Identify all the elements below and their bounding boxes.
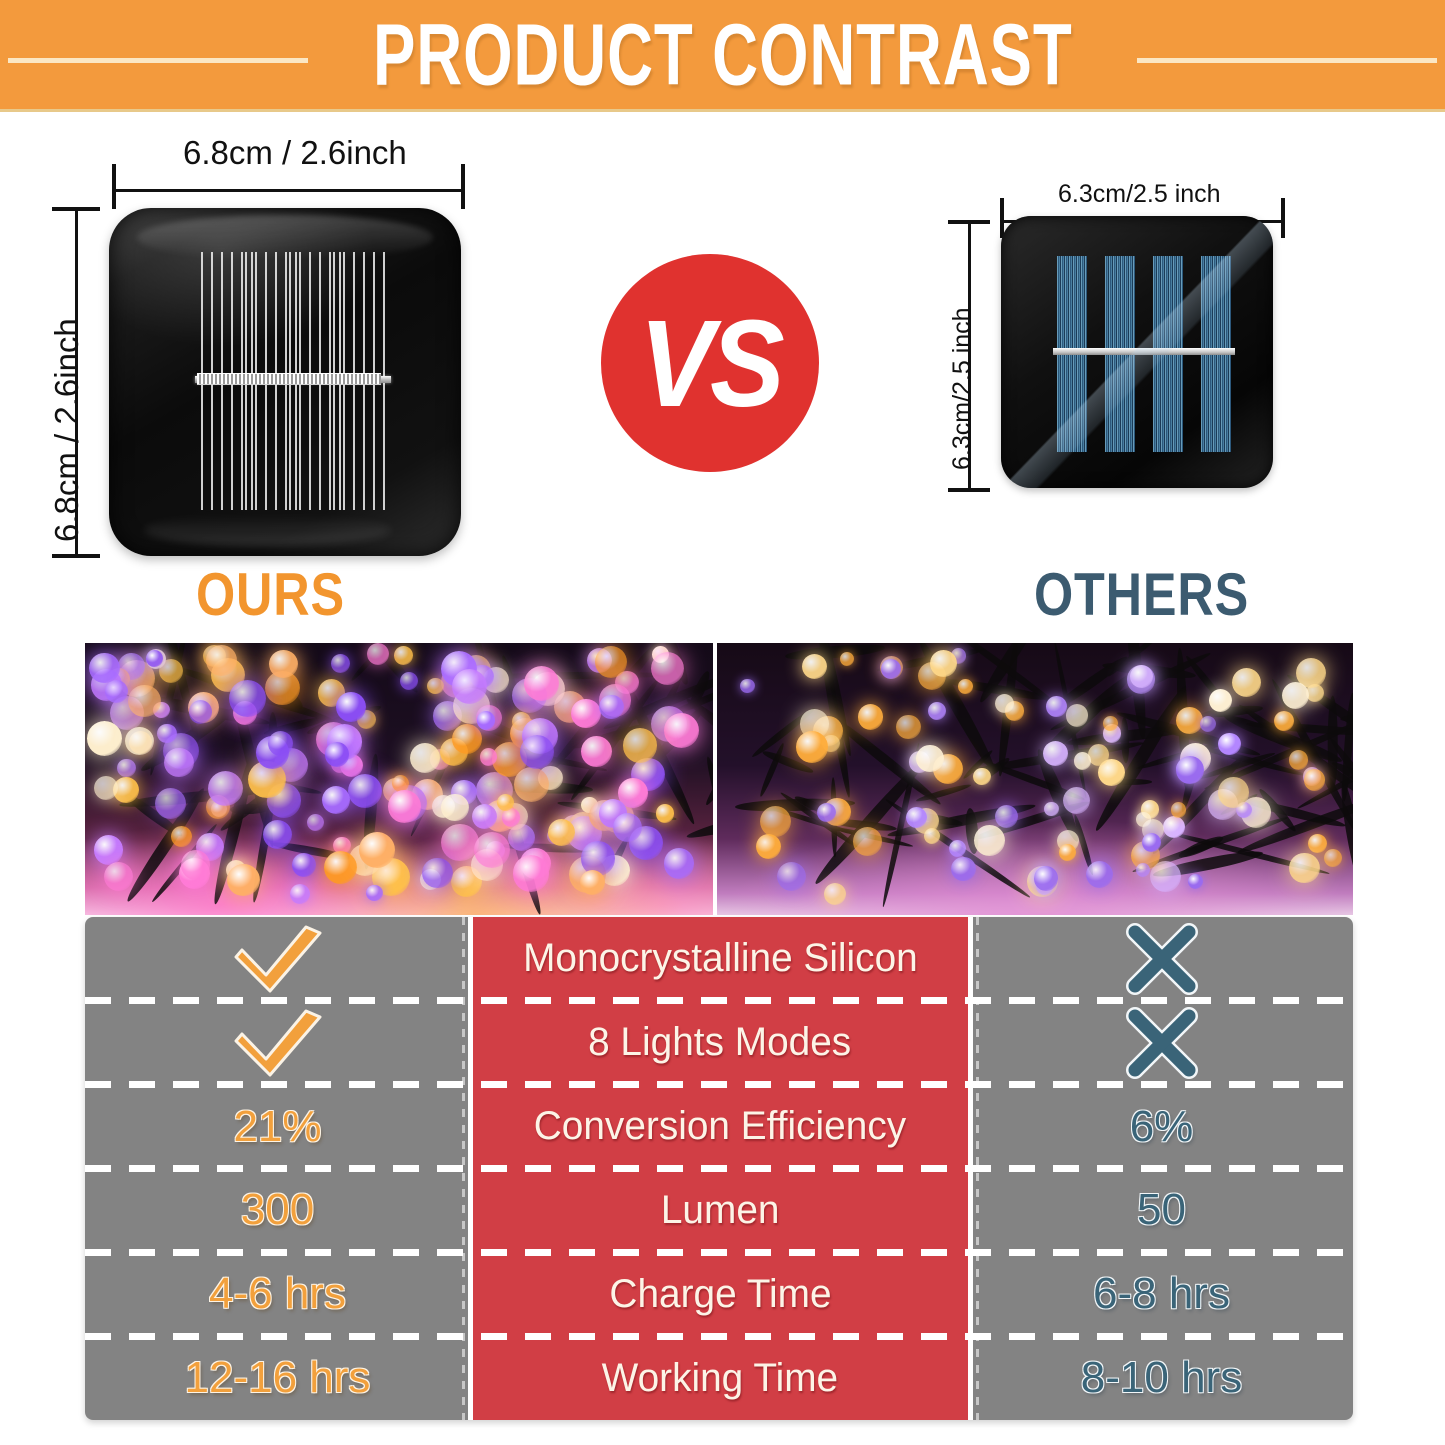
led-bulb xyxy=(477,711,495,729)
column-separator-left xyxy=(468,917,473,1420)
others-solar-panel-image xyxy=(1001,216,1273,488)
led-bulb xyxy=(906,807,927,828)
product-photo-band xyxy=(85,643,1353,915)
led-bulb xyxy=(656,804,674,822)
page-title: PRODUCT CONTRAST xyxy=(357,4,1088,104)
led-bulb xyxy=(229,680,266,717)
led-bulb xyxy=(497,794,514,811)
led-bulb xyxy=(336,692,366,722)
others-width-dimension-label: 6.3cm/2.5 inch xyxy=(1058,180,1221,209)
led-bulb xyxy=(930,650,957,677)
feature-label-text: Working Time xyxy=(602,1356,838,1401)
led-bulb xyxy=(422,858,453,889)
led-bulb xyxy=(571,699,601,729)
led-bulb xyxy=(513,855,549,891)
led-bulb xyxy=(164,748,193,777)
led-bulb xyxy=(796,731,828,763)
mono-busbar-segment-4 xyxy=(329,373,381,385)
led-bulb xyxy=(924,828,940,844)
led-bulb xyxy=(858,704,884,730)
led-bulb xyxy=(472,804,497,829)
ours-height-dimension-label: 6.8cm / 2.6inch xyxy=(48,318,86,542)
led-bulb xyxy=(1063,787,1090,814)
led-bulb xyxy=(951,857,975,881)
ours-width-dimension-line xyxy=(113,189,463,192)
led-bulb xyxy=(400,672,418,690)
led-bulb xyxy=(1324,849,1342,867)
feature-label-text: Lumen xyxy=(661,1188,780,1233)
others-value-text: 50 xyxy=(1137,1185,1186,1235)
vs-badge: VS xyxy=(601,254,819,472)
led-bulb xyxy=(958,679,973,694)
others-value-cell xyxy=(970,1001,1353,1085)
feature-label-text: Conversion Efficiency xyxy=(534,1104,906,1149)
led-bulb xyxy=(359,832,395,868)
row-divider xyxy=(85,1165,1353,1172)
led-bulb xyxy=(157,724,177,744)
led-bulb xyxy=(853,827,882,856)
led-bulb xyxy=(756,834,781,859)
led-bulb xyxy=(452,669,487,704)
others-caption: OTHERS xyxy=(1034,560,1249,629)
led-bulb xyxy=(548,819,575,846)
others-value-cell: 6-8 hrs xyxy=(970,1252,1353,1336)
led-bulb xyxy=(896,715,920,739)
others-width-tick-right xyxy=(1281,198,1285,238)
feature-label-text: Charge Time xyxy=(609,1272,831,1317)
feature-label-cell: Conversion Efficiency xyxy=(470,1085,970,1169)
led-bulb xyxy=(474,832,510,868)
feature-label-cell: Charge Time xyxy=(470,1252,970,1336)
led-bulb xyxy=(206,645,237,676)
led-bulb xyxy=(623,728,657,762)
ours-value-cell: 21% xyxy=(85,1085,470,1169)
led-bulb xyxy=(740,679,754,693)
row-divider xyxy=(85,1081,1353,1088)
led-bulb xyxy=(1289,750,1308,769)
poly-busbar xyxy=(1053,348,1235,355)
ours-value-text: 12-16 hrs xyxy=(185,1353,371,1403)
led-bulb xyxy=(269,650,298,679)
led-bulb xyxy=(452,724,482,754)
table-row: 8 Lights Modes xyxy=(85,1001,1353,1085)
led-bulb xyxy=(1046,696,1066,716)
ours-value-cell: 12-16 hrs xyxy=(85,1336,470,1420)
table-row: 4-6 hrsCharge Time6-8 hrs xyxy=(85,1252,1353,1336)
led-bulb xyxy=(155,788,186,819)
ours-value-cell: 4-6 hrs xyxy=(85,1252,470,1336)
ours-height-dimension-line xyxy=(75,208,78,556)
led-bulb xyxy=(290,884,310,904)
led-bulb xyxy=(366,885,382,901)
led-bulb xyxy=(1232,668,1262,698)
comparison-table: Monocrystalline Silicon8 Lights Modes21%… xyxy=(85,917,1353,1420)
ours-height-tick-top xyxy=(52,207,100,211)
header-banner: PRODUCT CONTRAST xyxy=(0,0,1445,112)
ours-value-text: 4-6 hrs xyxy=(209,1269,346,1319)
others-value-cell xyxy=(970,917,1353,1001)
led-bulb xyxy=(125,727,153,755)
table-row: Monocrystalline Silicon xyxy=(85,917,1353,1001)
feature-label-text: Monocrystalline Silicon xyxy=(523,936,918,981)
feature-label-cell: Monocrystalline Silicon xyxy=(470,917,970,1001)
led-bulb xyxy=(974,825,1005,856)
led-bulb xyxy=(1289,853,1319,883)
led-bulb xyxy=(599,695,623,719)
table-row: 300Lumen50 xyxy=(85,1168,1353,1252)
ours-width-tick-right xyxy=(461,164,465,209)
led-bulb xyxy=(916,745,943,772)
led-bulb xyxy=(881,659,901,679)
led-bulb xyxy=(146,650,163,667)
led-bulb xyxy=(268,731,293,756)
led-bulb xyxy=(1176,707,1203,734)
led-bulb xyxy=(817,803,836,822)
others-string-lights-photo xyxy=(717,643,1353,915)
feature-label-cell: Lumen xyxy=(470,1168,970,1252)
led-bulb xyxy=(1066,704,1089,727)
led-bulb xyxy=(651,652,684,685)
row-divider xyxy=(85,1333,1353,1340)
led-bulb xyxy=(1074,752,1091,769)
vs-label: VS xyxy=(639,292,780,434)
led-bulb xyxy=(331,654,350,673)
led-bulb xyxy=(1130,665,1153,688)
header-rule-left-decoration xyxy=(8,58,308,63)
led-bulb xyxy=(664,848,695,879)
ours-width-tick-left xyxy=(112,164,116,209)
led-bulb xyxy=(480,748,497,765)
table-row: 21%Conversion Efficiency6% xyxy=(85,1085,1353,1169)
panel-gloss-highlight-bottom xyxy=(144,514,390,545)
check-icon xyxy=(232,1007,324,1079)
ours-solar-panel-image xyxy=(109,208,461,556)
led-bulb xyxy=(595,646,627,678)
led-bulb xyxy=(581,736,612,767)
cross-icon xyxy=(1125,1006,1199,1080)
led-bulb xyxy=(292,853,316,877)
others-height-tick-top xyxy=(948,220,990,224)
led-bulb xyxy=(520,735,554,769)
panel-comparison-area: 6.8cm / 2.6inch 6.8cm / 2.6inch VS 6.3cm… xyxy=(0,112,1445,640)
led-bulb xyxy=(1034,866,1059,891)
led-bulb xyxy=(664,713,699,748)
others-value-cell: 8-10 hrs xyxy=(970,1336,1353,1420)
feature-label-cell: 8 Lights Modes xyxy=(470,1001,970,1085)
led-bulb xyxy=(441,794,469,822)
feature-label-text: 8 Lights Modes xyxy=(588,1020,851,1065)
led-bulb xyxy=(1304,769,1325,790)
led-bulb xyxy=(388,790,421,823)
ours-value-text: 300 xyxy=(241,1185,314,1235)
ours-caption: OURS xyxy=(196,560,345,629)
led-bulb xyxy=(89,653,120,684)
row-divider xyxy=(85,1249,1353,1256)
led-bulb xyxy=(502,808,520,826)
ours-value-cell xyxy=(85,1001,470,1085)
ours-value-cell: 300 xyxy=(85,1168,470,1252)
others-value-cell: 6% xyxy=(970,1085,1353,1169)
led-bulb xyxy=(94,835,124,865)
feature-label-cell: Working Time xyxy=(470,1336,970,1420)
led-bulb xyxy=(171,826,192,847)
led-bulb xyxy=(348,774,382,808)
led-bulb xyxy=(1308,834,1327,853)
led-bulb xyxy=(427,678,444,695)
ours-value-cell xyxy=(85,917,470,1001)
led-bulb xyxy=(189,700,213,724)
others-height-tick-bottom xyxy=(948,488,990,492)
row-divider xyxy=(85,997,1353,1004)
ours-height-tick-bottom xyxy=(52,554,100,558)
others-value-text: 8-10 hrs xyxy=(1081,1353,1242,1403)
header-rule-right-decoration xyxy=(1137,58,1437,63)
led-bulb xyxy=(1218,777,1248,807)
led-bulb xyxy=(973,768,991,786)
others-value-text: 6% xyxy=(1130,1102,1194,1152)
ours-value-text: 21% xyxy=(233,1102,321,1152)
ours-string-lights-photo xyxy=(85,643,713,915)
led-bulb xyxy=(105,680,128,703)
others-height-dimension-label: 6.3cm/2.5 inch xyxy=(948,307,977,470)
check-icon xyxy=(232,923,324,995)
led-bulb xyxy=(1171,802,1187,818)
cross-icon xyxy=(1125,922,1199,996)
led-bulb xyxy=(181,850,211,880)
led-bulb xyxy=(1044,802,1059,817)
led-bulb xyxy=(94,776,118,800)
led-bulb xyxy=(208,771,243,806)
led-bulb xyxy=(1059,844,1076,861)
led-bulb xyxy=(514,767,549,802)
led-bulb xyxy=(87,721,122,756)
column-separator-right xyxy=(968,917,973,1420)
led-bulb xyxy=(524,666,559,701)
led-bulb xyxy=(325,742,350,767)
others-value-text: 6-8 hrs xyxy=(1093,1269,1230,1319)
others-height-dimension-line xyxy=(968,222,971,490)
led-bulb xyxy=(777,862,806,891)
led-bulb xyxy=(1176,756,1204,784)
table-row: 12-16 hrsWorking Time8-10 hrs xyxy=(85,1336,1353,1420)
ours-width-dimension-label: 6.8cm / 2.6inch xyxy=(183,134,407,172)
led-bulb xyxy=(227,864,259,896)
led-bulb xyxy=(580,870,605,895)
others-value-cell: 50 xyxy=(970,1168,1353,1252)
